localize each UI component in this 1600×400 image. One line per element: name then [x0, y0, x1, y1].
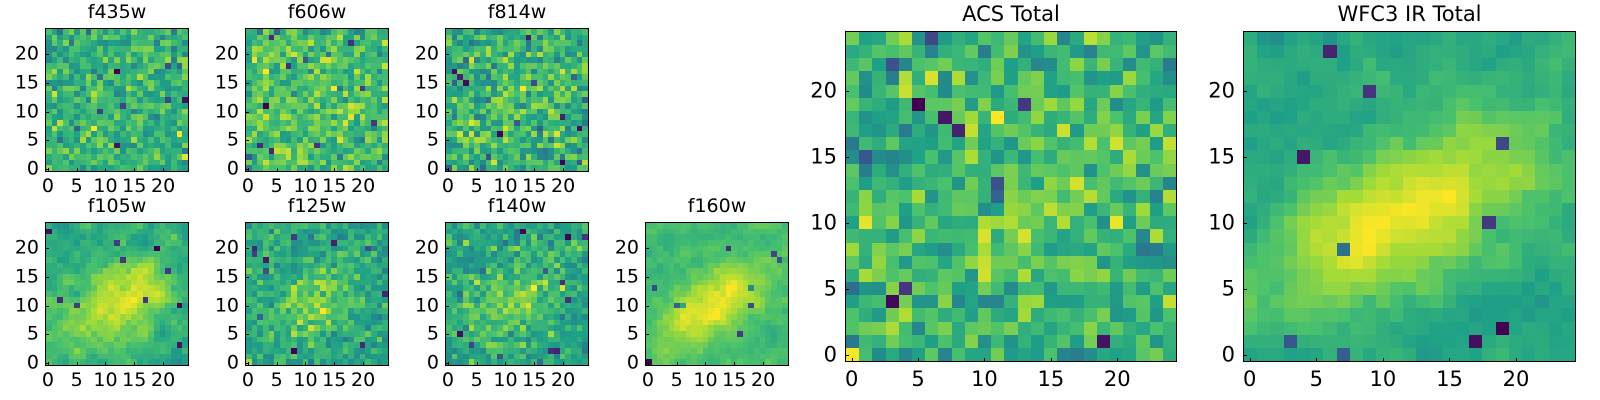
x-tick-label: 0 [242, 177, 254, 196]
panel-title: f606w [245, 3, 389, 22]
x-tick-label: 0 [42, 371, 54, 390]
x-tick-label: 15 [122, 371, 146, 390]
x-tick-label: 0 [642, 371, 654, 390]
x-tick-label: 10 [693, 371, 717, 390]
y-tick-label: 20 [215, 238, 239, 257]
y-tick-label: 15 [215, 73, 239, 92]
y-tick-label: 10 [810, 212, 837, 233]
heatmap-grid [246, 29, 388, 171]
y-tick-label: 5 [27, 325, 39, 344]
x-tick-label: 10 [493, 371, 517, 390]
y-tick-label: 15 [415, 267, 439, 286]
y-tick-label: 15 [415, 73, 439, 92]
y-tick-label: 20 [415, 44, 439, 63]
plot-area[interactable] [45, 28, 189, 172]
x-tick-label: 15 [722, 371, 746, 390]
x-tick-label: 15 [522, 371, 546, 390]
x-tick-label: 20 [751, 371, 775, 390]
y-tick-label: 0 [227, 160, 239, 179]
y-tick-label: 20 [615, 238, 639, 257]
x-tick-label: 20 [551, 371, 575, 390]
y-tick-label: 0 [824, 345, 837, 366]
x-tick-label: 20 [1104, 369, 1131, 390]
x-tick-label: 10 [293, 371, 317, 390]
x-tick-label: 20 [151, 371, 175, 390]
y-tick-label: 10 [1208, 212, 1235, 233]
heatmap-grid [446, 223, 588, 365]
x-tick-label: 5 [1310, 369, 1323, 390]
x-tick-label: 0 [845, 369, 858, 390]
y-tick-label: 5 [427, 325, 439, 344]
x-tick-label: 0 [42, 177, 54, 196]
y-tick-label: 5 [427, 131, 439, 150]
x-tick-label: 10 [93, 177, 117, 196]
x-tick-label: 10 [293, 177, 317, 196]
x-tick-label: 15 [1037, 369, 1064, 390]
plot-area[interactable] [1243, 31, 1576, 362]
y-tick-label: 15 [810, 146, 837, 167]
heatmap-grid [1244, 32, 1575, 361]
y-tick-label: 15 [615, 267, 639, 286]
x-tick-label: 5 [471, 177, 483, 196]
figure-canvas: f435w0510152005101520f606w05101520051015… [0, 0, 1600, 400]
panel-title: f435w [45, 3, 189, 22]
plot-area[interactable] [445, 222, 589, 366]
y-tick-label: 0 [427, 160, 439, 179]
y-tick-label: 15 [15, 73, 39, 92]
y-tick-label: 10 [215, 102, 239, 121]
y-tick-label: 5 [824, 279, 837, 300]
y-tick-label: 0 [1222, 345, 1235, 366]
panel-title: f160w [645, 197, 789, 216]
x-tick-label: 10 [1369, 369, 1396, 390]
y-tick-label: 5 [227, 325, 239, 344]
heatmap-grid [646, 223, 788, 365]
plot-area[interactable] [445, 28, 589, 172]
x-tick-label: 0 [442, 371, 454, 390]
y-tick-label: 20 [15, 44, 39, 63]
y-tick-label: 5 [227, 131, 239, 150]
heatmap-grid [446, 29, 588, 171]
plot-area[interactable] [645, 222, 789, 366]
x-tick-label: 5 [911, 369, 924, 390]
y-tick-label: 15 [15, 267, 39, 286]
y-tick-label: 20 [810, 80, 837, 101]
y-tick-label: 10 [415, 102, 439, 121]
y-tick-label: 10 [15, 102, 39, 121]
x-tick-label: 15 [1436, 369, 1463, 390]
y-tick-label: 0 [427, 354, 439, 373]
y-tick-label: 10 [415, 296, 439, 315]
x-tick-label: 20 [551, 177, 575, 196]
panel-title: f105w [45, 197, 189, 216]
x-tick-label: 20 [351, 177, 375, 196]
x-tick-label: 15 [322, 177, 346, 196]
plot-area[interactable] [45, 222, 189, 366]
y-tick-label: 5 [1222, 279, 1235, 300]
plot-area[interactable] [845, 31, 1177, 362]
panel-title: f140w [445, 197, 589, 216]
x-tick-label: 15 [122, 177, 146, 196]
panel-wfc3-ir-total: WFC3 IR Total0510152005101520 [0, 0, 1600, 400]
panel-title: f125w [245, 197, 389, 216]
panel-title: WFC3 IR Total [1243, 4, 1576, 25]
y-tick-label: 5 [27, 131, 39, 150]
x-tick-label: 15 [522, 177, 546, 196]
x-tick-label: 20 [151, 177, 175, 196]
y-tick-label: 20 [415, 238, 439, 257]
heatmap-grid [46, 29, 188, 171]
x-tick-label: 10 [971, 369, 998, 390]
y-tick-label: 0 [27, 160, 39, 179]
y-tick-label: 10 [215, 296, 239, 315]
panel-title: f814w [445, 3, 589, 22]
x-tick-label: 5 [71, 371, 83, 390]
y-tick-label: 10 [615, 296, 639, 315]
x-tick-label: 20 [1503, 369, 1530, 390]
y-tick-label: 0 [227, 354, 239, 373]
y-tick-label: 15 [215, 267, 239, 286]
x-tick-label: 15 [322, 371, 346, 390]
x-tick-label: 5 [271, 177, 283, 196]
plot-area[interactable] [245, 28, 389, 172]
heatmap-grid [246, 223, 388, 365]
y-tick-label: 15 [1208, 146, 1235, 167]
y-tick-label: 20 [215, 44, 239, 63]
x-tick-label: 5 [471, 371, 483, 390]
heatmap-grid [46, 223, 188, 365]
x-tick-label: 10 [93, 371, 117, 390]
heatmap-grid [846, 32, 1176, 361]
x-tick-label: 5 [71, 177, 83, 196]
x-tick-label: 0 [1243, 369, 1256, 390]
x-tick-label: 0 [242, 371, 254, 390]
y-tick-label: 0 [627, 354, 639, 373]
x-tick-label: 5 [671, 371, 683, 390]
x-tick-label: 20 [351, 371, 375, 390]
y-tick-label: 20 [15, 238, 39, 257]
x-tick-label: 5 [271, 371, 283, 390]
y-tick-label: 10 [15, 296, 39, 315]
y-tick-label: 20 [1208, 80, 1235, 101]
y-tick-label: 0 [27, 354, 39, 373]
plot-area[interactable] [245, 222, 389, 366]
x-tick-label: 10 [493, 177, 517, 196]
y-tick-label: 5 [627, 325, 639, 344]
panel-title: ACS Total [845, 4, 1177, 25]
x-tick-label: 0 [442, 177, 454, 196]
